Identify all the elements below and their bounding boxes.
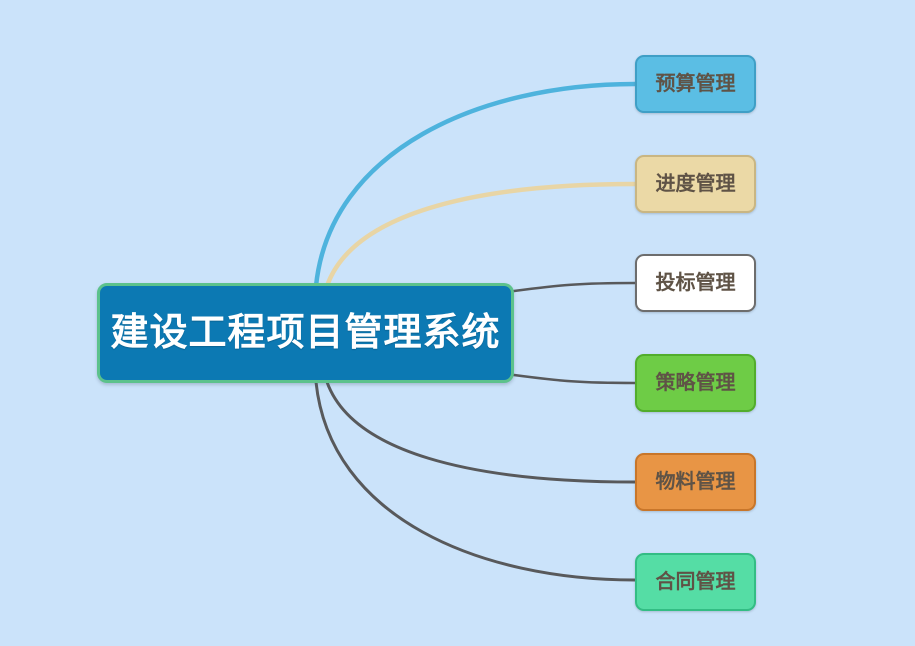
branch-node-strategy[interactable]: 策略管理 [635,354,756,412]
branch-node-material[interactable]: 物料管理 [635,453,756,511]
edge-to-bidding [514,283,635,291]
branch-node-budget[interactable]: 预算管理 [635,55,756,113]
edge-to-strategy [514,375,635,383]
edge-to-contract [316,382,635,580]
branch-node-bidding[interactable]: 投标管理 [635,254,756,312]
branch-node-contract[interactable]: 合同管理 [635,553,756,611]
branch-node-label: 策略管理 [656,373,736,393]
branch-node-label: 投标管理 [656,273,736,293]
root-node[interactable]: 建设工程项目管理系统 [97,283,514,383]
branch-node-label: 合同管理 [656,572,736,592]
root-node-label: 建设工程项目管理系统 [110,314,500,352]
branch-node-schedule[interactable]: 进度管理 [635,155,756,213]
edge-to-budget [316,84,635,286]
edge-to-schedule [327,184,635,286]
edge-to-material [327,382,635,482]
branch-node-label: 预算管理 [656,74,736,94]
mindmap-canvas: 建设工程项目管理系统 预算管理 进度管理 投标管理 策略管理 物料管理 合同管理 [0,0,915,646]
branch-node-label: 进度管理 [656,174,736,194]
branch-node-label: 物料管理 [656,472,736,492]
